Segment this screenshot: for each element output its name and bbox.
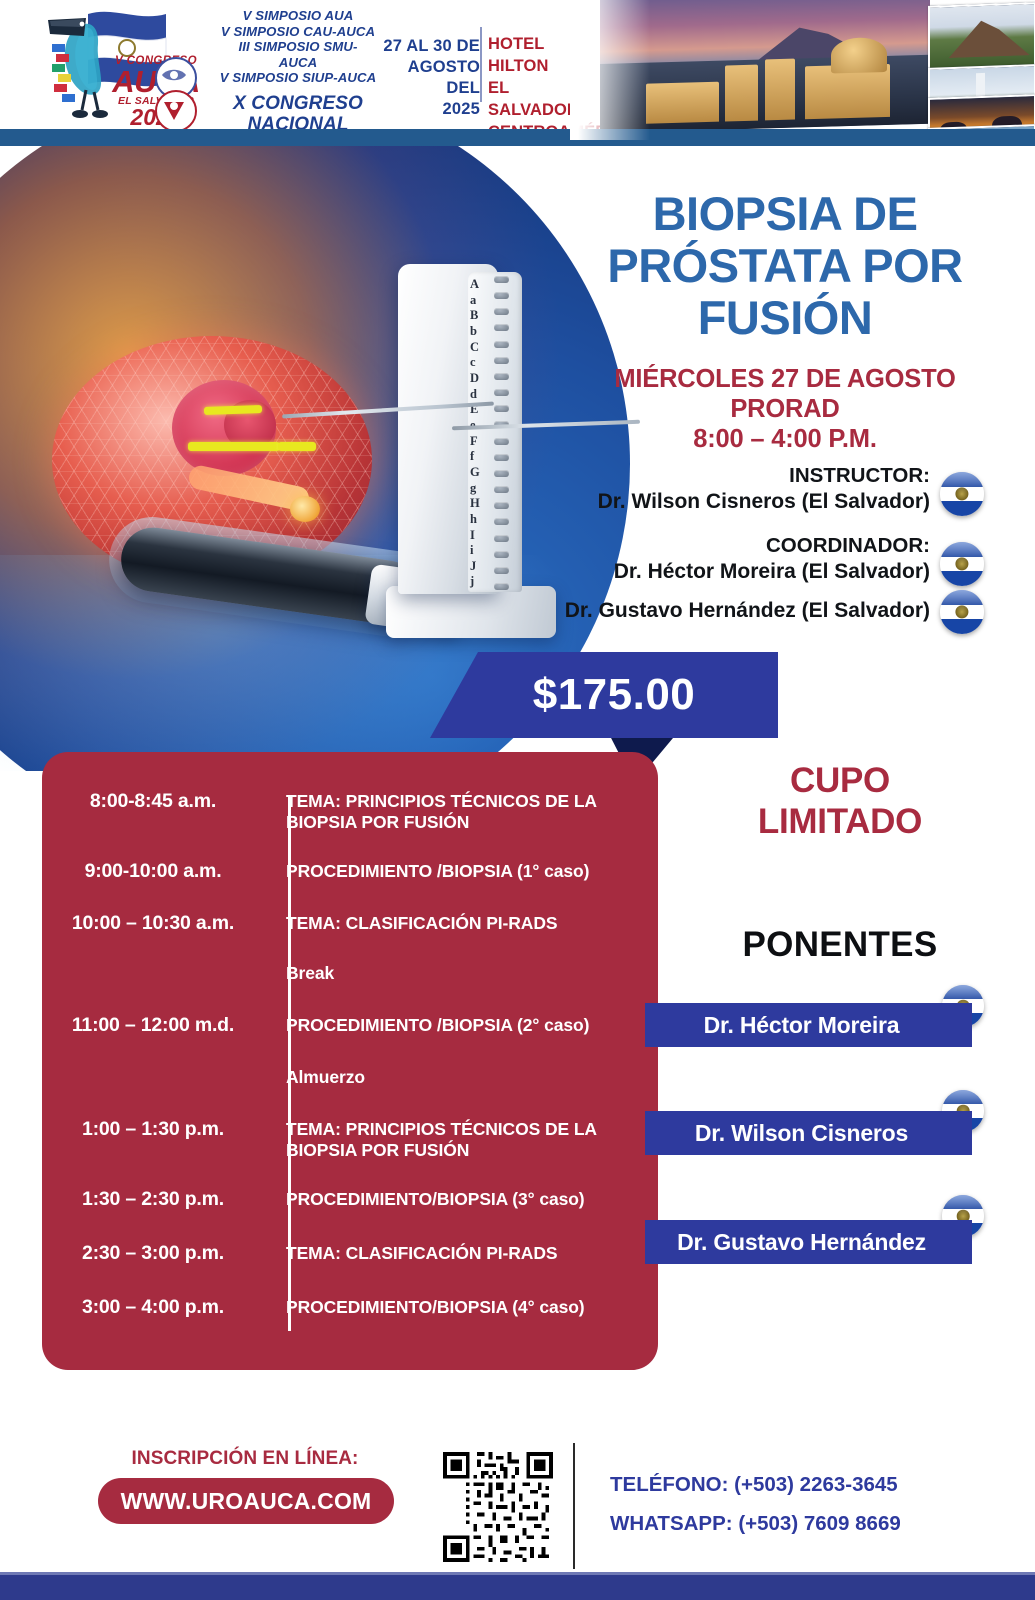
fiducial-marker xyxy=(188,442,280,451)
additional-person-name: Dr. Gustavo Hernández (El Salvador) xyxy=(500,598,930,624)
grid-label: G xyxy=(470,466,486,479)
page-title: BIOPSIA DE PRÓSTATA POR FUSIÓN xyxy=(560,188,1010,344)
grid-label: i xyxy=(470,544,486,557)
schedule-desc: PROCEDIMIENTO /BIOPSIA (2° caso) xyxy=(264,1012,658,1036)
symposium-item: V SIMPOSIO CAU-AUCA xyxy=(218,24,378,40)
schedule-desc: PROCEDIMIENTO/BIOPSIA (4° caso) xyxy=(264,1294,658,1318)
schedule-time xyxy=(42,960,264,962)
el-salvador-flag-icon xyxy=(940,472,984,516)
price-banner-body: $175.00 xyxy=(430,652,778,738)
speaker-name: Dr. Héctor Moreira xyxy=(704,1012,914,1039)
header-blue-band xyxy=(0,129,1035,146)
whatsapp-value: (+503) 7609 8669 xyxy=(738,1512,900,1535)
schedule-desc: Almuerzo xyxy=(264,1064,658,1088)
whatsapp-label: WHATSAPP: xyxy=(610,1512,733,1535)
grid-label: b xyxy=(470,325,486,338)
fiducial-marker xyxy=(278,442,316,451)
schedule-desc: PROCEDIMIENTO /BIOPSIA (1° caso) xyxy=(264,858,658,882)
phone-label: TELÉFONO: xyxy=(610,1473,728,1496)
urethra-tip-glow xyxy=(290,496,320,522)
schedule-time xyxy=(42,1064,264,1066)
symposium-item: V SIMPOSIO SIUP-AUCA xyxy=(218,70,378,86)
table-row: Almuerzo xyxy=(42,1064,658,1116)
grid-label: d xyxy=(470,388,486,401)
event-location: PRORAD xyxy=(560,394,1010,424)
speaker-name: Dr. Wilson Cisneros xyxy=(695,1120,922,1147)
coordinator-name: Dr. Héctor Moreira (El Salvador) xyxy=(500,559,930,585)
schedule-desc: TEMA: PRINCIPIOS TÉCNICOS DE LA BIOPSIA … xyxy=(264,788,658,833)
schedule-desc: PROCEDIMIENTO/BIOPSIA (3° caso) xyxy=(264,1186,658,1210)
registration-qr-code[interactable] xyxy=(443,1452,553,1562)
table-row: 1:00 – 1:30 p.m. TEMA: PRINCIPIOS TÉCNIC… xyxy=(42,1116,658,1186)
footer-divider xyxy=(573,1443,575,1569)
schedule-time: 8:00-8:45 a.m. xyxy=(42,788,264,813)
grid-label: J xyxy=(470,560,486,573)
schedule-time: 1:00 – 1:30 p.m. xyxy=(42,1116,264,1141)
schedule-desc: TEMA: CLASIFICACIÓN PI-RADS xyxy=(264,1240,658,1264)
phone-value: (+503) 2263-3645 xyxy=(734,1473,898,1496)
schedule-desc: TEMA: PRINCIPIOS TÉCNICOS DE LA BIOPSIA … xyxy=(264,1116,658,1161)
speaker-name: Dr. Gustavo Hernández xyxy=(677,1229,940,1256)
event-subtitle: MIÉRCOLES 27 DE AGOSTO PRORAD 8:00 – 4:0… xyxy=(560,364,1010,454)
website-button[interactable]: WWW.UROAUCA.COM xyxy=(98,1478,394,1524)
contact-info: TELÉFONO: (+503) 2263-3645 WHATSAPP: (+5… xyxy=(610,1465,1010,1543)
grid-label: j xyxy=(470,575,486,588)
symposium-item: V SIMPOSIO AUA xyxy=(218,8,378,24)
header-photo-fade xyxy=(570,0,650,140)
schedule-desc: Break xyxy=(264,960,658,984)
grid-label: g xyxy=(470,482,486,495)
el-salvador-flag-icon xyxy=(940,542,984,586)
header-date-line-1: 27 AL 30 DE xyxy=(375,36,480,57)
grid-label: D xyxy=(470,372,486,385)
header-date-line-2: AGOSTO DEL xyxy=(375,57,480,99)
price-banner: $175.00 xyxy=(430,652,800,762)
el-salvador-flag-icon xyxy=(940,590,984,634)
speaker-item: Dr. Wilson Cisneros xyxy=(645,1111,972,1155)
schedule-time: 11:00 – 12:00 m.d. xyxy=(42,1012,264,1037)
limited-seats-notice: CUPO LIMITADO xyxy=(690,760,990,842)
schedule-time: 3:00 – 4:00 p.m. xyxy=(42,1294,264,1319)
table-row: 11:00 – 12:00 m.d. PROCEDIMIENTO /BIOPSI… xyxy=(42,1012,658,1064)
speaker-item: Dr. Gustavo Hernández xyxy=(645,1220,972,1264)
grid-label: a xyxy=(470,294,486,307)
schedule-time: 10:00 – 10:30 a.m. xyxy=(42,910,264,935)
grid-label: C xyxy=(470,341,486,354)
urology-society-emblem-icon xyxy=(155,90,197,132)
table-row: Break xyxy=(42,960,658,1012)
schedule-time: 9:00-10:00 a.m. xyxy=(42,858,264,883)
grid-label: F xyxy=(470,435,486,448)
table-row: 8:00-8:45 a.m. TEMA: PRINCIPIOS TÉCNICOS… xyxy=(42,788,658,858)
grid-label: f xyxy=(470,450,486,463)
grid-row-labels: A a B b C c D d E e F f G g H h I i J j xyxy=(470,278,486,588)
schedule-time: 2:30 – 3:00 p.m. xyxy=(42,1240,264,1265)
grid-label: c xyxy=(470,356,486,369)
table-row: 10:00 – 10:30 a.m. TEMA: CLASIFICACIÓN P… xyxy=(42,910,658,960)
header-symposia-block: V SIMPOSIO AUA V SIMPOSIO CAU-AUCA III S… xyxy=(218,8,378,146)
additional-person-block: Dr. Gustavo Hernández (El Salvador) xyxy=(500,598,930,624)
cupo-line-2: LIMITADO xyxy=(690,801,990,842)
inscription-label: INSCRIPCIÓN EN LÍNEA: xyxy=(95,1448,395,1470)
table-row: 3:00 – 4:00 p.m. PROCEDIMIENTO/BIOPSIA (… xyxy=(42,1294,658,1348)
schedule-desc: TEMA: CLASIFICACIÓN PI-RADS xyxy=(264,910,658,934)
speaker-item: Dr. Héctor Moreira xyxy=(645,1003,972,1047)
event-date: MIÉRCOLES 27 DE AGOSTO xyxy=(560,364,1010,394)
poster-header: V CONGRESO AUCA EL SALVADOR 2025 V SIMPO… xyxy=(0,0,1035,146)
instructor-role-label: INSTRUCTOR: xyxy=(500,463,930,489)
table-row: 9:00-10:00 a.m. PROCEDIMIENTO /BIOPSIA (… xyxy=(42,858,658,910)
symposium-item: III SIMPOSIO SMU- AUCA xyxy=(218,39,378,70)
table-row: 2:30 – 3:00 p.m. TEMA: CLASIFICACIÓN PI-… xyxy=(42,1240,658,1294)
schedule-rows: 8:00-8:45 a.m. TEMA: PRINCIPIOS TÉCNICOS… xyxy=(42,788,658,1348)
grid-label: A xyxy=(470,278,486,291)
coordinator-block: COORDINADOR: Dr. Héctor Moreira (El Salv… xyxy=(500,533,930,585)
header-divider xyxy=(480,27,482,102)
website-url: WWW.UROAUCA.COM xyxy=(121,1488,372,1515)
volcano-photo xyxy=(928,2,1035,72)
cupo-line-1: CUPO xyxy=(690,760,990,801)
schedule-time: 1:30 – 2:30 p.m. xyxy=(42,1186,264,1211)
phone-row: TELÉFONO: (+503) 2263-3645 xyxy=(610,1465,1010,1504)
grid-label: I xyxy=(470,529,486,542)
header-dates: 27 AL 30 DE AGOSTO DEL 2025 xyxy=(375,36,480,120)
table-row: 1:30 – 2:30 p.m. PROCEDIMIENTO/BIOPSIA (… xyxy=(42,1186,658,1240)
instructor-block: INSTRUCTOR: Dr. Wilson Cisneros (El Salv… xyxy=(500,463,930,515)
event-hours: 8:00 – 4:00 P.M. xyxy=(560,424,1010,454)
whatsapp-row: WHATSAPP: (+503) 7609 8669 xyxy=(610,1504,1010,1543)
grid-label: H xyxy=(470,497,486,510)
speakers-heading: PONENTES xyxy=(690,925,990,965)
grid-label: h xyxy=(470,513,486,526)
coordinator-role-label: COORDINADOR: xyxy=(500,533,930,559)
schedule-panel: 8:00-8:45 a.m. TEMA: PRINCIPIOS TÉCNICOS… xyxy=(42,752,658,1370)
header-date-line-3: 2025 xyxy=(375,99,480,120)
qr-code-icon xyxy=(443,1452,553,1562)
bottom-blue-bar xyxy=(0,1575,1035,1600)
price-value: $175.00 xyxy=(533,670,696,720)
instructor-name: Dr. Wilson Cisneros (El Salvador) xyxy=(500,489,930,515)
grid-label: B xyxy=(470,309,486,322)
